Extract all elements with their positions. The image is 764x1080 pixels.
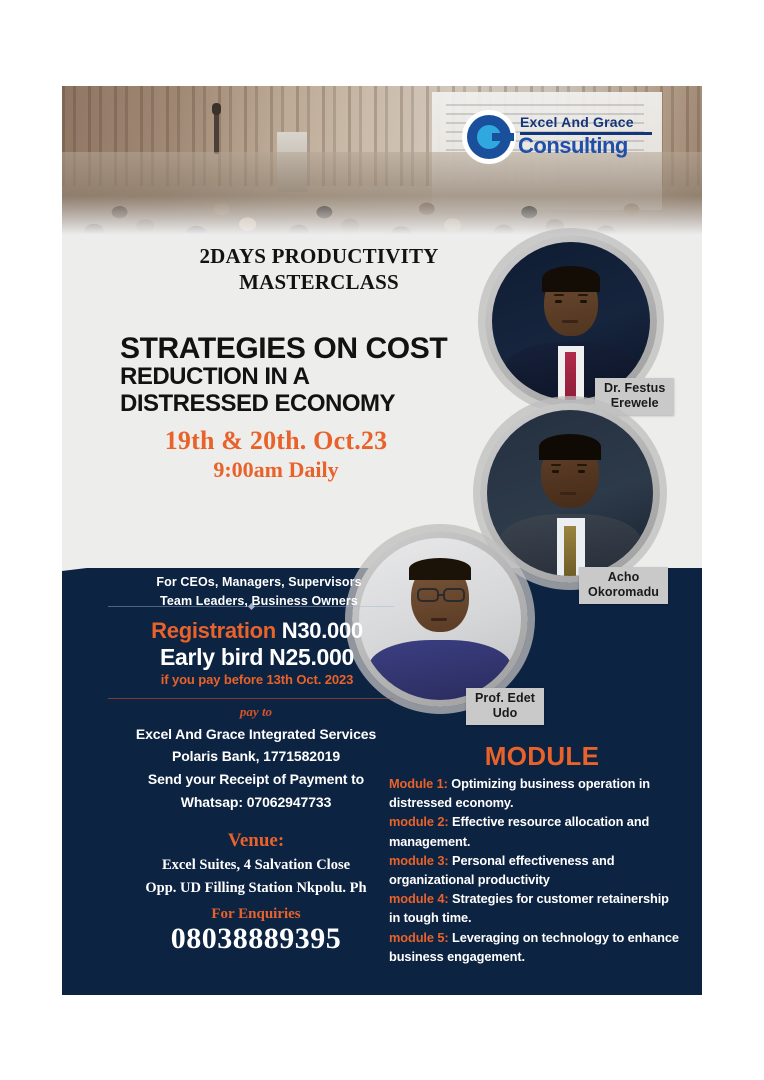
registration-block: Registration N30.000 Early bird N25.000 …: [92, 618, 422, 690]
pay-to-label: pay to: [86, 702, 426, 723]
modules-heading: MODULE: [392, 741, 692, 772]
audience-line2: Team Leaders, Business Owners: [114, 592, 404, 611]
event-flyer: Excel And Grace Consulting 2DAYS PRODUCT…: [62, 86, 702, 995]
speaker-name-2-line1: Acho: [588, 570, 659, 585]
payment-block: pay to Excel And Grace Integrated Servic…: [86, 702, 426, 813]
module-key: module 3:: [389, 853, 449, 868]
module-key: Module 1:: [389, 776, 448, 791]
event-date: 19th & 20th. Oct.23 9:00am Daily: [106, 426, 446, 483]
speaker-name-3-line1: Prof. Edet: [475, 691, 535, 706]
conference-photo: Excel And Grace Consulting: [62, 86, 702, 238]
module-item: Module 1: Optimizing business operation …: [389, 774, 679, 812]
logo-line2: Consulting: [518, 133, 658, 159]
module-item: module 4: Strategies for customer retain…: [389, 889, 679, 927]
event-time: 9:00am Daily: [106, 457, 446, 483]
microphone-stand: [214, 110, 219, 154]
early-bird-price: Early bird N25.000: [92, 644, 422, 671]
section-divider: [108, 606, 394, 607]
modules-list: Module 1: Optimizing business operation …: [389, 774, 679, 966]
venue-line2: Opp. UD Filling Station Nkpolu. Ph: [86, 877, 426, 900]
headline-line3: DISTRESSED ECONOMY: [120, 391, 520, 418]
bank-account: Polaris Bank, 1771582019: [86, 745, 426, 768]
audience-line1: For CEOs, Managers, Supervisors: [114, 573, 404, 592]
event-headline: STRATEGIES ON COST REDUCTION IN A DISTRE…: [120, 334, 520, 418]
venue-block: Venue: Excel Suites, 4 Salvation Close O…: [86, 828, 426, 901]
logo-c-icon: [462, 110, 516, 164]
early-bird-note: if you pay before 13th Oct. 2023: [92, 670, 422, 690]
speaker-name-2-line2: Okoromadu: [588, 585, 659, 600]
speaker-name-3: Prof. Edet Udo: [466, 688, 544, 725]
event-date-main: 19th & 20th. Oct.23: [106, 426, 446, 457]
registration-label: Registration: [151, 618, 276, 643]
enquiries-phone: 08038889395: [86, 922, 426, 956]
payment-divider: [108, 698, 394, 699]
speaker-name-1-line2: Erewele: [604, 396, 665, 411]
module-key: module 4:: [389, 891, 449, 906]
photo-fade-overlay: [62, 196, 702, 238]
headline-line2: REDUCTION IN A: [120, 364, 520, 391]
venue-line1: Excel Suites, 4 Salvation Close: [86, 854, 426, 877]
event-kicker: 2DAYS PRODUCTIVITY MASTERCLASS: [154, 244, 484, 296]
registration-price: N30.000: [282, 618, 363, 643]
module-key: module 2:: [389, 814, 449, 829]
enquiries-heading: For Enquiries: [86, 906, 426, 923]
module-key: module 5:: [389, 930, 449, 945]
account-name: Excel And Grace Integrated Services: [86, 723, 426, 746]
module-item: module 2: Effective resource allocation …: [389, 812, 679, 850]
speaker-name-2: Acho Okoromadu: [579, 567, 668, 604]
company-logo: Excel And Grace Consulting: [462, 108, 654, 166]
whatsapp-number: Whatsap: 07062947733: [86, 791, 426, 814]
logo-line1: Excel And Grace: [520, 114, 652, 130]
speaker-name-1-line1: Dr. Festus: [604, 381, 665, 396]
headline-line1: STRATEGIES ON COST: [120, 334, 520, 364]
receipt-note: Send your Receipt of Payment to: [86, 768, 426, 791]
module-item: module 3: Personal effectiveness and org…: [389, 851, 679, 889]
module-item: module 5: Leveraging on technology to en…: [389, 928, 679, 966]
speaker-name-3-line2: Udo: [475, 706, 535, 721]
venue-heading: Venue:: [86, 828, 426, 854]
flyer-page: Excel And Grace Consulting 2DAYS PRODUCT…: [0, 0, 764, 1080]
